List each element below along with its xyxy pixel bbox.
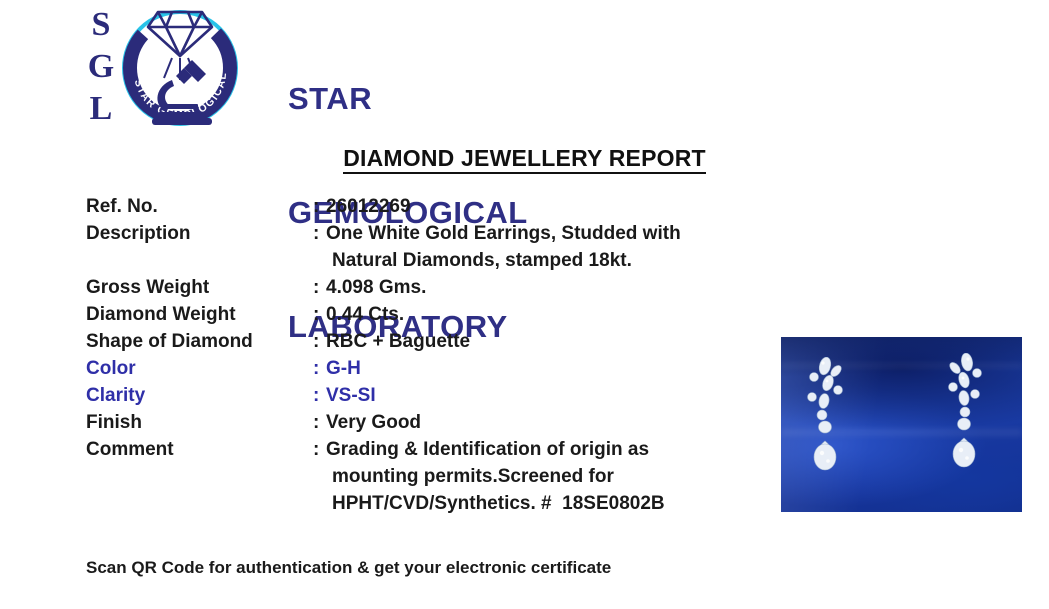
field-colon: : [313, 436, 319, 463]
field-value-comment-line2: mounting permits.Screened for [332, 463, 614, 490]
footer-note: Scan QR Code for authentication & get yo… [86, 558, 611, 578]
field-label-comment: Comment [86, 436, 174, 463]
field-row-color: Color : G-H [86, 355, 746, 382]
field-row-comment-cont-2: HPHT/CVD/Synthetics. # 18SE0802B [86, 490, 746, 517]
field-colon: : [313, 274, 319, 301]
sgl-logo-emblem: STAR GEMOLOGICAL LABORATORY [114, 0, 246, 134]
company-name-line-1: STAR [288, 80, 528, 118]
field-value-comment-line3: HPHT/CVD/Synthetics. # 18SE0802B [332, 490, 665, 517]
field-value-description-line2: Natural Diamonds, stamped 18kt. [332, 247, 632, 274]
field-colon: : [313, 301, 319, 328]
field-colon: : [313, 382, 319, 409]
logo-svg: STAR GEMOLOGICAL LABORATORY [114, 0, 246, 134]
field-value-description: One White Gold Earrings, Studded with [326, 220, 681, 247]
field-label-description: Description [86, 220, 191, 247]
field-colon: : [313, 328, 319, 355]
field-value-gross-weight: 4.098 Gms. [326, 274, 426, 301]
field-colon: : [313, 409, 319, 436]
field-row-finish: Finish : Very Good [86, 409, 746, 436]
field-value-diamond-weight: 0.44 Cts. [326, 301, 404, 328]
field-value-clarity: VS-SI [326, 382, 376, 409]
certificate-header: S G L STAR GEMOLOGICAL LABORATORY [0, 0, 1049, 140]
microscope-icon [152, 60, 212, 125]
field-label-gross-weight: Gross Weight [86, 274, 209, 301]
report-details: Ref. No. : 26012269 Description : One Wh… [86, 193, 746, 517]
field-label-ref-no: Ref. No. [86, 193, 158, 220]
field-label-shape-of-diamond: Shape of Diamond [86, 328, 253, 355]
field-label-clarity: Clarity [86, 382, 145, 409]
field-row-shape-of-diamond: Shape of Diamond : RBC + Baguette [86, 328, 746, 355]
field-value-ref-no: 26012269 [326, 193, 411, 220]
field-colon: : [313, 220, 319, 247]
field-value-comment: Grading & Identification of origin as [326, 436, 649, 463]
field-row-description: Description : One White Gold Earrings, S… [86, 220, 746, 247]
diamond-earrings-photo [781, 337, 1022, 512]
earring-left-svg [803, 357, 849, 487]
field-value-finish: Very Good [326, 409, 421, 436]
field-value-color: G-H [326, 355, 361, 382]
field-label-color: Color [86, 355, 136, 382]
field-row-description-cont: Natural Diamonds, stamped 18kt. [86, 247, 746, 274]
earring-right [941, 353, 987, 483]
field-label-finish: Finish [86, 409, 142, 436]
field-row-ref-no: Ref. No. : 26012269 [86, 193, 746, 220]
field-colon: : [313, 355, 319, 382]
field-row-comment-cont-1: mounting permits.Screened for [86, 463, 746, 490]
field-row-clarity: Clarity : VS-SI [86, 382, 746, 409]
field-value-shape-of-diamond: RBC + Baguette [326, 328, 470, 355]
field-colon: : [313, 193, 319, 220]
report-title: DIAMOND JEWELLERY REPORT [0, 145, 1049, 172]
field-row-comment: Comment : Grading & Identification of or… [86, 436, 746, 463]
earring-left [803, 357, 849, 487]
field-label-diamond-weight: Diamond Weight [86, 301, 236, 328]
field-row-diamond-weight: Diamond Weight : 0.44 Cts. [86, 301, 746, 328]
report-title-text: DIAMOND JEWELLERY REPORT [343, 145, 706, 174]
field-row-gross-weight: Gross Weight : 4.098 Gms. [86, 274, 746, 301]
earring-right-svg [941, 353, 987, 483]
